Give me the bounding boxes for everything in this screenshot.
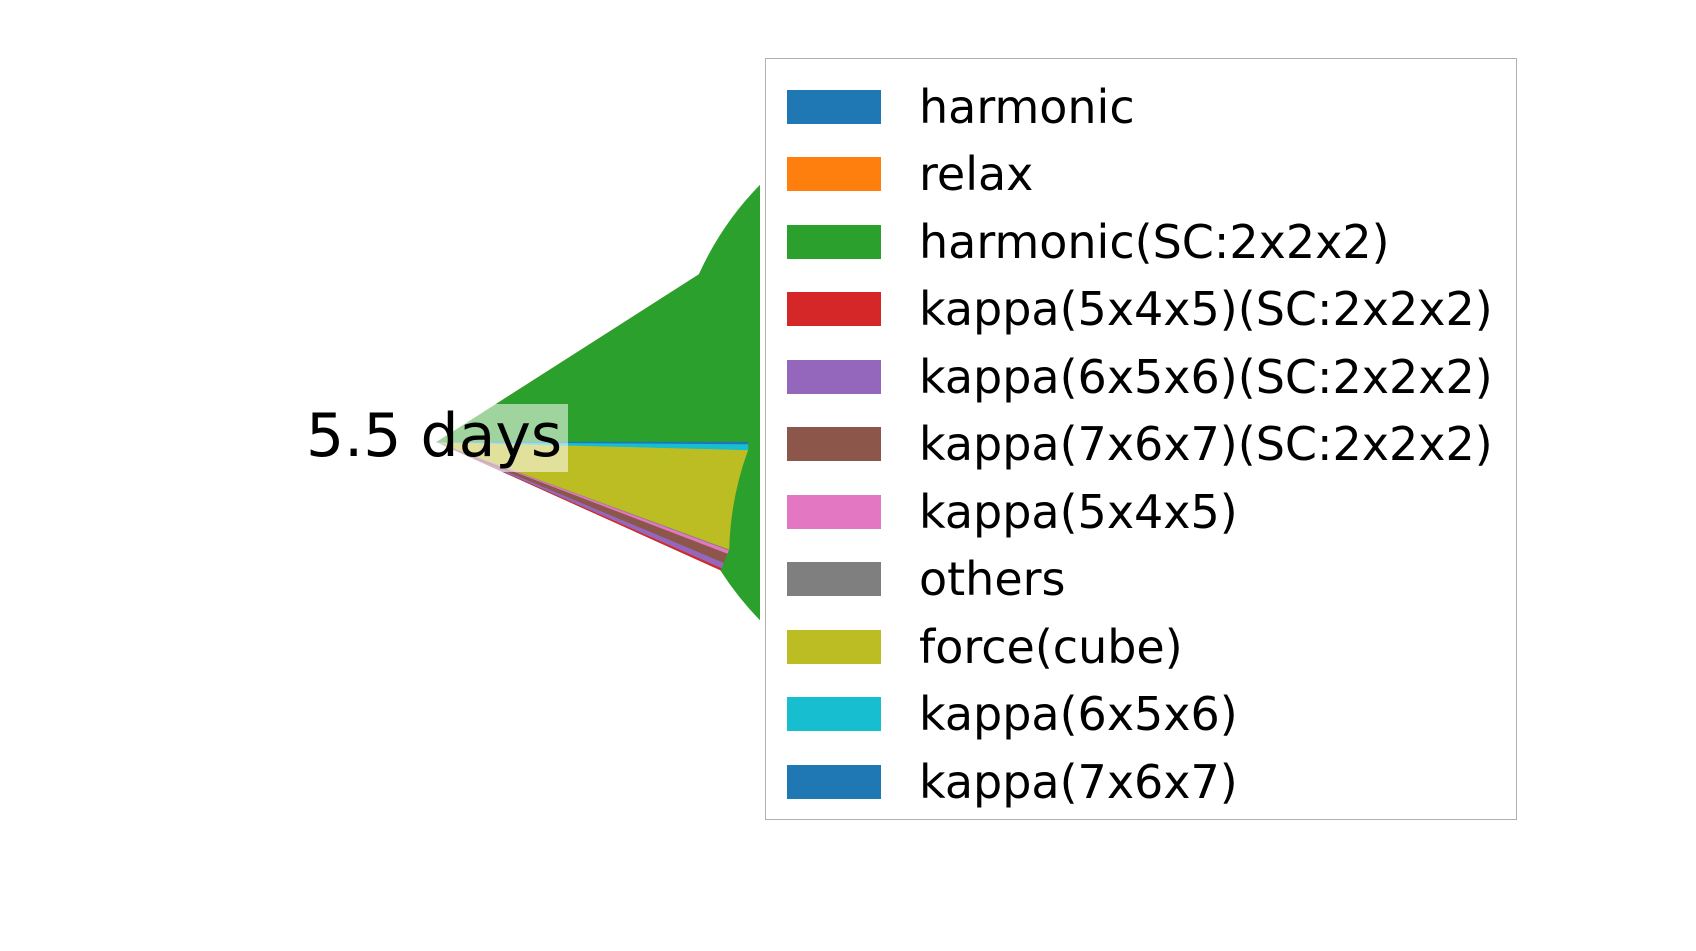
legend-item[interactable]: kappa(5x4x5) — [766, 478, 1516, 546]
legend-item[interactable]: kappa(6x5x6) — [766, 681, 1516, 749]
legend-item[interactable]: harmonic — [766, 73, 1516, 141]
legend-item[interactable]: kappa(5x4x5)(SC:2x2x2) — [766, 276, 1516, 344]
legend-color-swatch — [787, 495, 881, 529]
legend-color-swatch — [787, 697, 881, 731]
legend-item-label: kappa(6x5x6)(SC:2x2x2) — [919, 354, 1493, 400]
legend-color-swatch — [787, 427, 881, 461]
legend-item-label: kappa(5x4x5)(SC:2x2x2) — [919, 286, 1493, 332]
legend-item[interactable]: harmonic(SC:2x2x2) — [766, 208, 1516, 276]
legend-color-swatch — [787, 90, 881, 124]
legend-item-label: relax — [919, 151, 1033, 197]
legend-item[interactable]: kappa(7x6x7)(SC:2x2x2) — [766, 411, 1516, 479]
legend-item-label: kappa(7x6x7)(SC:2x2x2) — [919, 421, 1493, 467]
legend-item[interactable]: kappa(7x6x7) — [766, 748, 1516, 816]
legend-item-label: kappa(5x4x5) — [919, 489, 1238, 535]
pie-chart-figure: 5.5 days harmonicrelaxharmonic(SC:2x2x2)… — [0, 0, 1696, 951]
legend-color-swatch — [787, 225, 881, 259]
legend-color-swatch — [787, 157, 881, 191]
legend-item-label: harmonic — [919, 84, 1135, 130]
legend-item-label: harmonic(SC:2x2x2) — [919, 219, 1390, 265]
legend-item-label: others — [919, 556, 1066, 602]
legend-color-swatch — [787, 292, 881, 326]
chart-legend: harmonicrelaxharmonic(SC:2x2x2)kappa(5x4… — [765, 58, 1517, 820]
legend-item[interactable]: kappa(6x5x6)(SC:2x2x2) — [766, 343, 1516, 411]
legend-item-label: kappa(7x6x7) — [919, 759, 1238, 805]
legend-color-swatch — [787, 630, 881, 664]
legend-color-swatch — [787, 562, 881, 596]
legend-color-swatch — [787, 360, 881, 394]
legend-item[interactable]: relax — [766, 141, 1516, 209]
legend-item[interactable]: others — [766, 546, 1516, 614]
pie-plot-area: 5.5 days — [0, 0, 760, 951]
legend-item-label: kappa(6x5x6) — [919, 691, 1238, 737]
pie-svg — [0, 0, 760, 951]
pie-center-label: 5.5 days — [300, 404, 568, 472]
legend-color-swatch — [787, 765, 881, 799]
legend-item-label: force(cube) — [919, 624, 1183, 670]
legend-item[interactable]: force(cube) — [766, 613, 1516, 681]
